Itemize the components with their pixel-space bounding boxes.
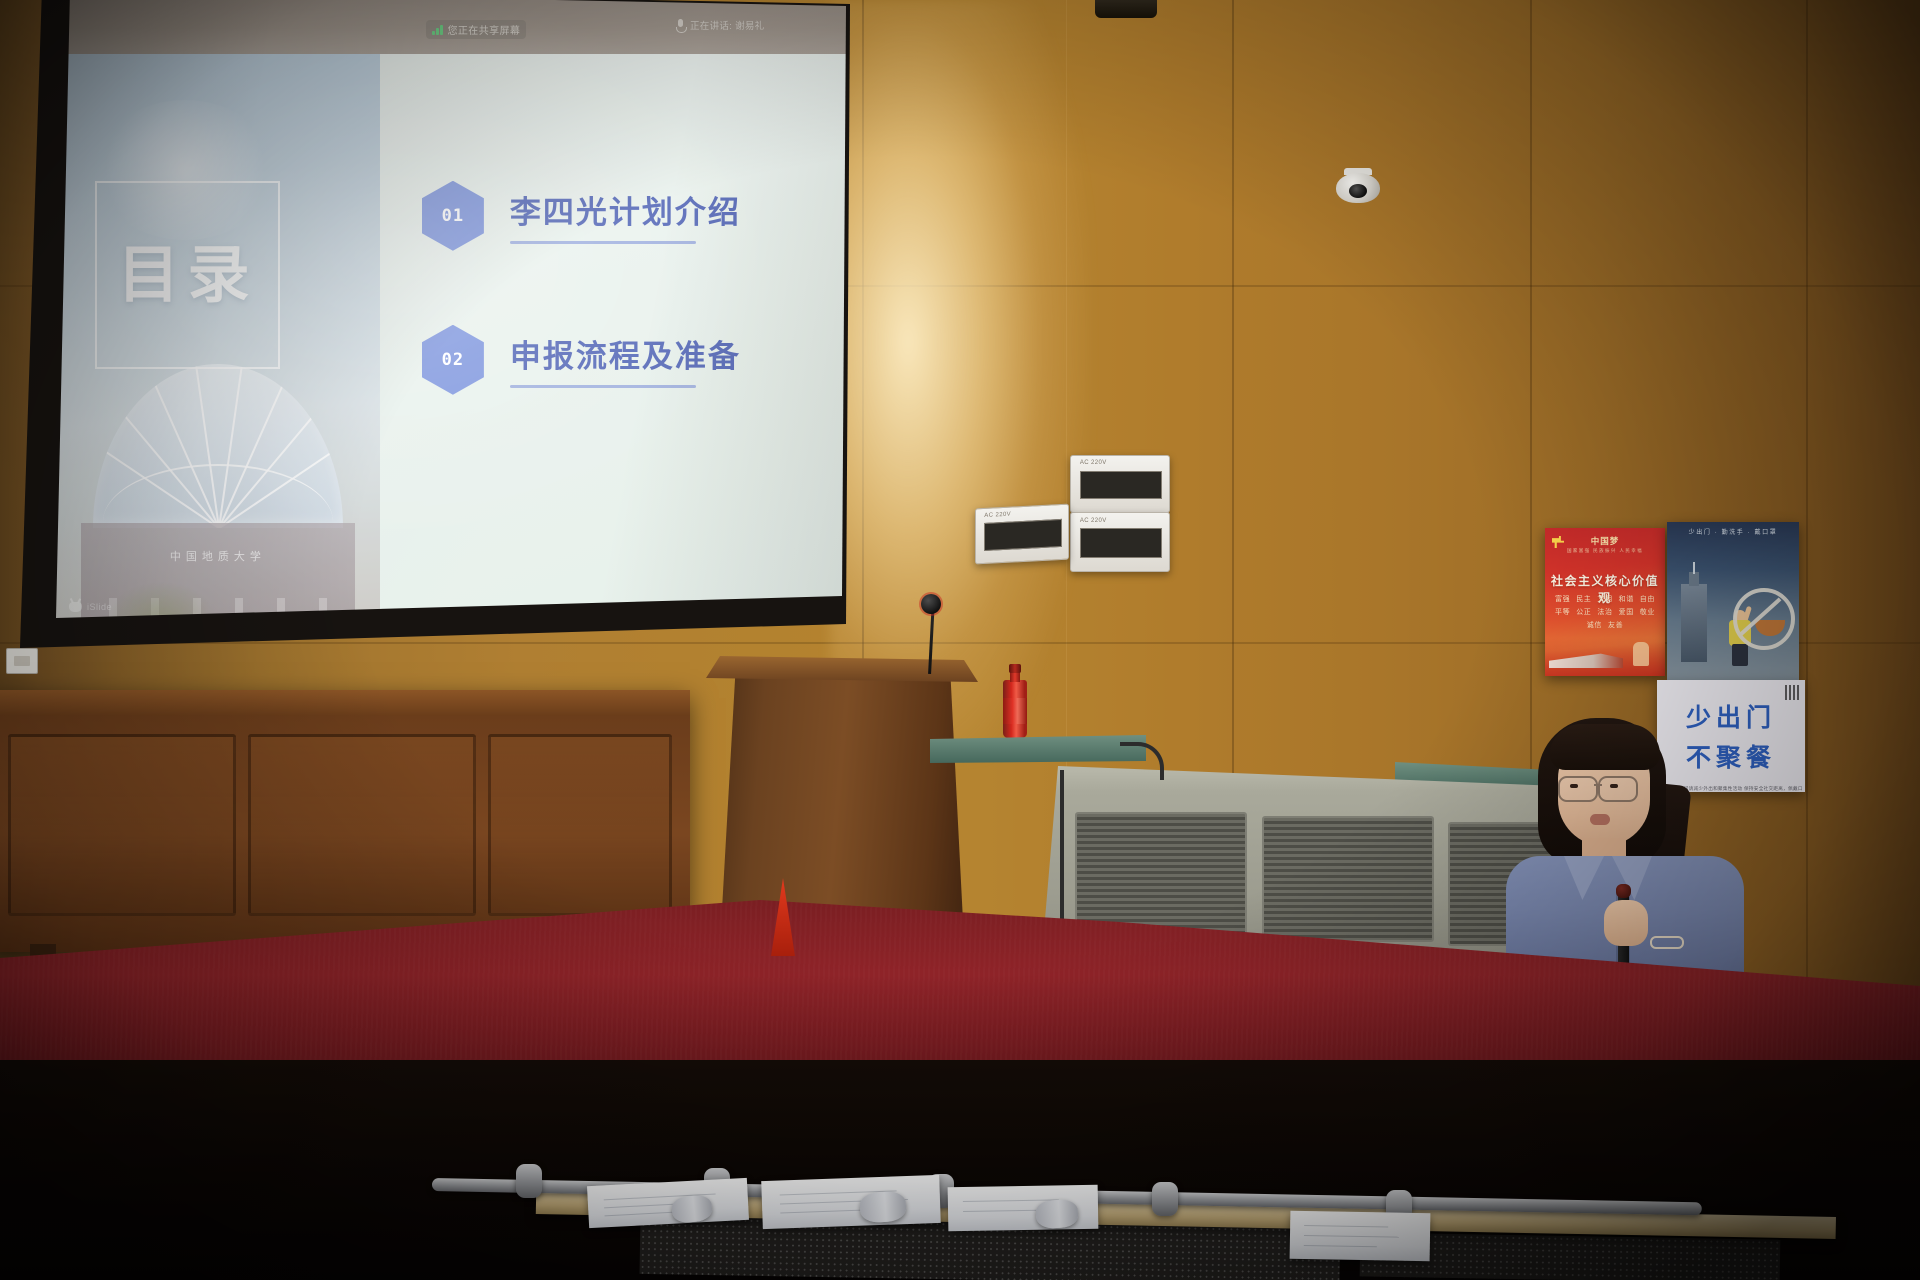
islide-logo-icon (69, 602, 82, 612)
qr-code-icon (1785, 685, 1800, 700)
camera-dome-icon (1336, 168, 1380, 204)
electrical-distribution-panel-upper: AC 220V (1070, 455, 1170, 513)
projection-screen-frame: 您正在共享屏幕 正在讲话: 谢易礼 (20, 0, 850, 660)
agenda-number-badge: 01 (422, 181, 484, 251)
presenter-eye (1570, 784, 1578, 788)
active-speaker-indicator[interactable]: 正在讲话: 谢易礼 (676, 18, 764, 32)
value-word: 文明 (1597, 594, 1612, 604)
eyeglasses-icon (1598, 776, 1638, 802)
value-word: 公正 (1576, 607, 1591, 617)
agenda-number-badge: 02 (422, 325, 484, 395)
value-word: 法治 (1597, 607, 1612, 617)
socket-icon (6, 648, 38, 674)
screen-share-status-bar: 您正在共享屏幕 正在讲话: 谢易礼 (56, 0, 846, 54)
dome-roof (93, 364, 344, 528)
poster-title: 中国梦 (1545, 535, 1665, 547)
coca-cola-bottle (1003, 664, 1027, 738)
active-speaker-label: 正在讲话: 谢易礼 (690, 18, 764, 32)
poster-subtitle: 国家富强 民族振兴 人民幸福 (1545, 548, 1665, 554)
poster-values-list: 富强 民主 文明 和谐 自由 平等 公正 法治 爱国 敬业 诚信 友善 (1553, 594, 1657, 630)
vent-icon (1095, 0, 1157, 18)
agenda-underline (510, 241, 696, 244)
campus-building-photo: 中国地质大学 (75, 354, 360, 619)
panel-tag: AC 220V (1080, 518, 1107, 524)
building-name-caption: 中国地质大学 (81, 548, 355, 564)
projection-screen-surface[interactable]: 您正在共享屏幕 正在讲话: 谢易礼 (56, 0, 846, 630)
value-word: 诚信 (1587, 620, 1602, 630)
signal-bars-icon (432, 24, 443, 35)
console-vent-panel (1262, 816, 1434, 942)
value-word: 自由 (1640, 594, 1655, 604)
list-item[interactable] (1290, 1211, 1431, 1261)
microphone-head-icon (921, 594, 941, 614)
screen-share-label: 您正在共享屏幕 (448, 22, 521, 37)
presenter-hand (1604, 900, 1648, 946)
slide-heading-box: 目录 (95, 181, 280, 369)
value-word: 爱国 (1619, 607, 1634, 617)
agenda-item-01[interactable]: 01 李四光计划介绍 (422, 181, 741, 251)
agenda-item-label: 李四光计划介绍 (510, 187, 741, 232)
islide-label: iSlide (87, 602, 112, 612)
microphone-head-icon (1616, 884, 1631, 898)
figure-illustration (1633, 642, 1649, 666)
value-word: 民主 (1576, 594, 1591, 604)
presenter-mouth (1590, 814, 1610, 825)
presenter (1500, 718, 1750, 988)
foliage (104, 581, 218, 623)
value-word: 敬业 (1640, 607, 1655, 617)
islide-watermark: iSlide (69, 602, 112, 612)
screenshot-root: AC 220V AC 220V AC 220V 中国梦 国家富强 民族振兴 人民… (0, 0, 1920, 1280)
lectern-top-surface (706, 656, 978, 682)
eyeglasses-bridge (1594, 784, 1602, 786)
panel-tag: AC 220V (984, 512, 1011, 519)
slide-agenda-panel: 01 李四光计划介绍 02 申报流程及准备 (380, 54, 846, 630)
value-word: 富强 (1555, 594, 1570, 604)
tower-illustration (1681, 584, 1707, 662)
projector-light-spill (830, 0, 1090, 760)
agenda-item-02[interactable]: 02 申报流程及准备 (422, 325, 741, 395)
presenter-fringe (1550, 724, 1660, 770)
value-word: 友善 (1608, 620, 1623, 630)
panel-tag: AC 220V (1080, 460, 1107, 466)
list-item[interactable] (587, 1178, 749, 1228)
poster-header: 少出门 · 勤洗手 · 戴口罩 (1667, 527, 1799, 536)
list-item[interactable] (761, 1175, 941, 1229)
value-word: 平等 (1555, 607, 1570, 617)
poster-covid-illustration: 少出门 · 勤洗手 · 戴口罩 (1667, 522, 1799, 680)
prohibition-sign-icon (1733, 588, 1795, 650)
poster-socialist-core-values: 中国梦 国家富强 民族振兴 人民幸福 社会主义核心价值观 富强 民主 文明 和谐… (1545, 528, 1665, 676)
electrical-distribution-panel-side: AC 220V (975, 504, 1069, 565)
electrical-distribution-panel-lower: AC 220V (1070, 512, 1170, 572)
rail-knob[interactable] (516, 1164, 542, 1198)
av-desk-surface (930, 735, 1146, 763)
eyeglasses-icon (1558, 776, 1598, 802)
screen-share-indicator[interactable]: 您正在共享屏幕 (426, 20, 526, 39)
presenter-eye (1610, 784, 1618, 788)
bracelet (1650, 936, 1684, 949)
value-word: 和谐 (1619, 594, 1634, 604)
agenda-item-label: 申报流程及准备 (510, 331, 741, 376)
page-title: 目录 (118, 244, 258, 306)
presentation-slide: 中国地质大学 目录 iSlide 01 (56, 54, 846, 630)
paper-curl (1035, 1199, 1078, 1229)
slide-photo-panel: 中国地质大学 目录 iSlide (56, 54, 380, 630)
stage-wooden-bench (0, 690, 690, 952)
agenda-underline (510, 385, 696, 388)
rail-knob[interactable] (1152, 1182, 1178, 1216)
microphone-icon (676, 19, 685, 32)
